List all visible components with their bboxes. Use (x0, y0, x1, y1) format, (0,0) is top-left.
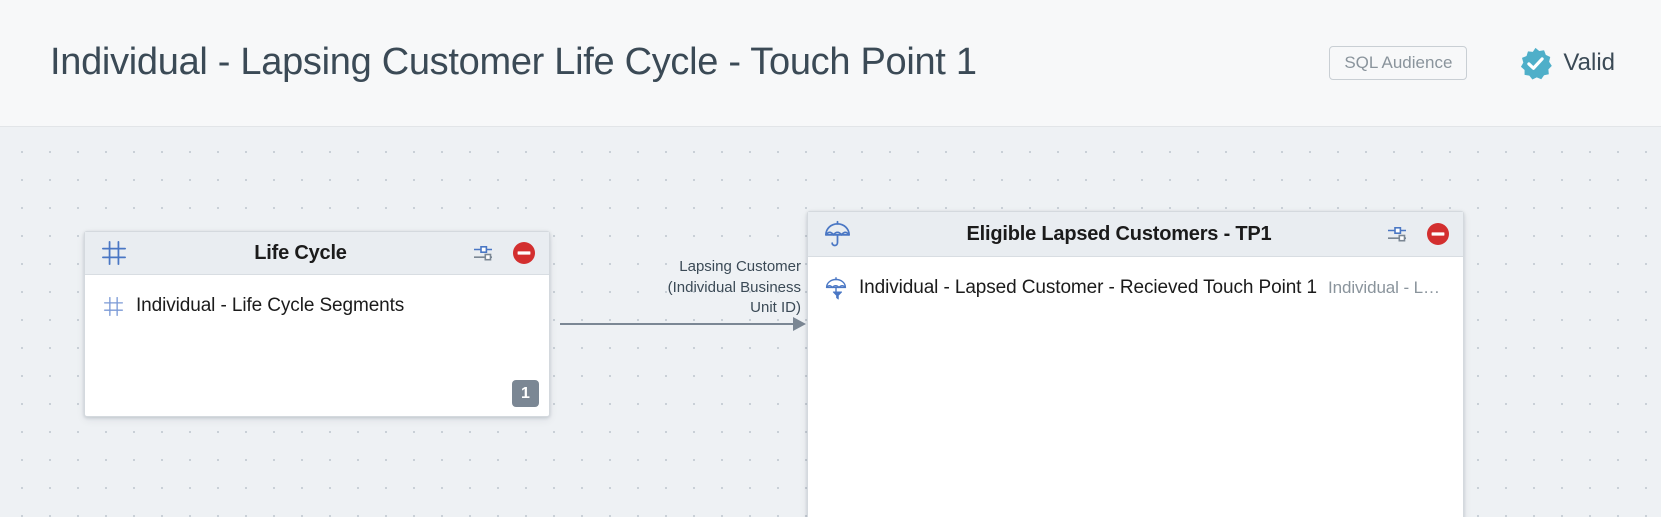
sliders-icon[interactable] (1386, 222, 1410, 246)
connector-arrow-icon (550, 313, 810, 335)
grid-icon (101, 294, 125, 318)
connector-label: Lapsing Customer (Individual Business Un… (668, 257, 801, 319)
connector-label-line-2: (Individual Business (668, 278, 801, 299)
remove-circle-icon[interactable] (512, 241, 536, 265)
status-label: Valid (1563, 51, 1615, 75)
umbrella-icon (822, 219, 852, 249)
connector-label-line-3: Unit ID) (668, 298, 801, 319)
page-title: Individual - Lapsing Customer Life Cycle… (50, 42, 977, 84)
remove-circle-icon[interactable] (1426, 222, 1450, 246)
page-header: Individual - Lapsing Customer Life Cycle… (0, 0, 1661, 127)
node-row[interactable]: Individual - Life Cycle Segments (101, 294, 533, 318)
status-badge: Valid (1519, 47, 1615, 80)
audience-builder-page: Individual - Lapsing Customer Life Cycle… (0, 0, 1661, 517)
count-badge: 1 (512, 380, 539, 407)
node-body: Individual - Lapsed Customer - Recieved … (808, 257, 1463, 517)
node-row[interactable]: Individual - Lapsed Customer - Recieved … (824, 276, 1447, 300)
node-row-label: Individual - Life Cycle Segments (136, 295, 404, 317)
node-title: Eligible Lapsed Customers - TP1 (862, 223, 1376, 246)
node-body: Individual - Life Cycle Segments 1 (85, 275, 549, 416)
grid-icon (99, 238, 129, 268)
sliders-icon[interactable] (472, 241, 496, 265)
node-header[interactable]: Eligible Lapsed Customers - TP1 (808, 212, 1463, 257)
verified-badge-icon (1519, 47, 1552, 80)
node-eligible-lapsed-customers-tp1[interactable]: Eligible Lapsed Customers - TP1 (807, 211, 1464, 517)
flow-canvas[interactable]: Life Cycle (0, 127, 1661, 517)
node-life-cycle[interactable]: Life Cycle (84, 231, 550, 417)
header-actions: SQL Audience Valid (1329, 46, 1615, 80)
node-header-actions (472, 241, 536, 265)
node-title: Life Cycle (139, 242, 462, 265)
umbrella-filter-icon (824, 276, 848, 300)
connector-lifecycle-to-eligible: Lapsing Customer (Individual Business Un… (550, 257, 810, 337)
node-header[interactable]: Life Cycle (85, 232, 549, 275)
node-header-actions (1386, 222, 1450, 246)
node-row-meta: Individual - Lapsed... (1328, 278, 1447, 298)
connector-label-line-1: Lapsing Customer (668, 257, 801, 278)
node-row-label: Individual - Lapsed Customer - Recieved … (859, 277, 1317, 299)
audience-type-badge[interactable]: SQL Audience (1329, 46, 1467, 80)
